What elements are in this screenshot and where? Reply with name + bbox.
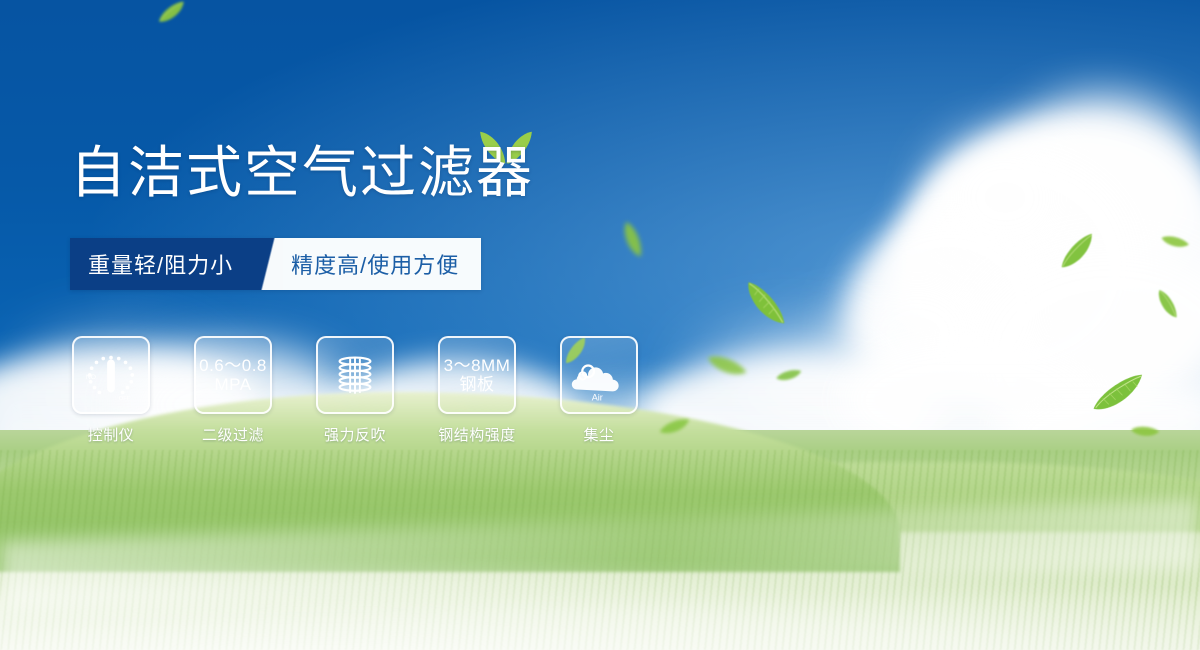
feature-list: NO OFF 控制仪 0.6～0.8 MPA 二级过滤 [70,336,640,445]
feature-icon-box [316,336,394,414]
grass-field [0,430,1200,650]
steel-plate-icon: 3～8MM 钢板 [444,356,511,394]
steel-material: 钢板 [444,375,511,394]
filter-stack-icon [329,349,381,401]
feature-label: 集尘 [583,424,614,445]
feature-icon-box: 3～8MM 钢板 [438,336,516,414]
pressure-unit: MPA [199,375,267,394]
feature-item-steel[interactable]: 3～8MM 钢板 钢结构强度 [436,336,518,445]
feature-item-dust[interactable]: Air 集尘 [558,336,640,445]
feature-item-pressure[interactable]: 0.6～0.8 MPA 二级过滤 [192,336,274,445]
gauge-off-label: OFF [119,396,131,402]
subtitle-divider [253,238,283,290]
feature-item-controller[interactable]: NO OFF 控制仪 [70,336,152,445]
hero-banner: 自洁式空气过滤器 重量轻/阻力小 精度高/使用方便 N [0,0,1200,650]
feature-label: 二级过滤 [202,424,264,445]
pressure-value: 0.6～0.8 [199,356,267,375]
gauge-on-label: NO [86,374,96,381]
feature-label: 控制仪 [88,424,135,445]
air-label: Air [592,392,603,402]
subtitle-left: 重量轻/阻力小 [70,238,253,290]
feature-label: 强力反吹 [324,424,386,445]
subtitle-right: 精度高/使用方便 [283,238,481,290]
steel-thickness: 3～8MM [444,356,511,375]
pressure-icon: 0.6～0.8 MPA [199,356,267,394]
feature-item-backblow[interactable]: 强力反吹 [314,336,396,445]
feature-icon-box: Air [560,336,638,414]
feature-icon-box: NO OFF [72,336,150,414]
page-title: 自洁式空气过滤器 [70,146,534,202]
air-cloud-icon: Air [570,346,628,404]
feature-icon-box: 0.6～0.8 MPA [194,336,272,414]
subtitle-bar: 重量轻/阻力小 精度高/使用方便 [70,238,481,290]
gauge-icon: NO OFF [80,344,142,406]
feature-label: 钢结构强度 [438,424,516,445]
